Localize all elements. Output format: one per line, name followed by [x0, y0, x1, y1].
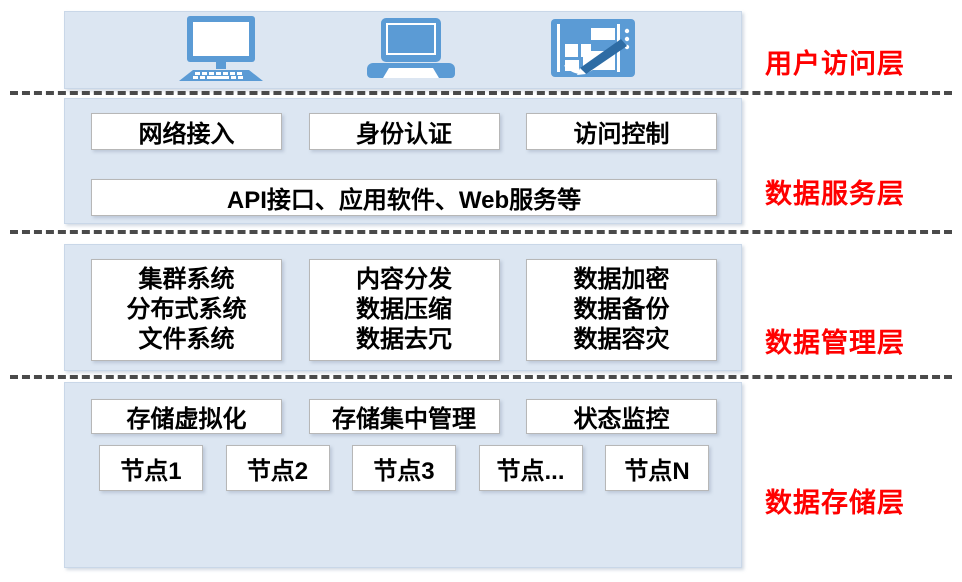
management-line: 文件系统 [139, 325, 235, 355]
management-box-content[interactable]: 内容分发 数据压缩 数据去冗 [309, 259, 500, 361]
management-box-protection[interactable]: 数据加密 数据备份 数据容灾 [526, 259, 717, 361]
storage-node-ellipsis[interactable]: 节点... [479, 445, 583, 491]
layer-caption-data-service: 数据服务层 [765, 172, 955, 211]
management-line: 数据压缩 [356, 295, 452, 325]
management-line: 数据备份 [574, 295, 670, 325]
storage-node-row: 节点1 节点2 节点3 节点... 节点N [99, 445, 709, 491]
desktop-computer-icon [167, 14, 275, 87]
storage-node-2[interactable]: 节点2 [226, 445, 330, 491]
storage-node-1[interactable]: 节点1 [99, 445, 203, 491]
service-box-network-access[interactable]: 网络接入 [91, 113, 282, 150]
storage-node-n[interactable]: 节点N [605, 445, 709, 491]
storage-node-3[interactable]: 节点3 [352, 445, 456, 491]
layer-caption-data-storage: 数据存储层 [765, 481, 955, 520]
management-line: 数据加密 [574, 265, 670, 295]
data-management-box-row: 集群系统 分布式系统 文件系统 内容分发 数据压缩 数据去冗 数据加密 数据备份… [91, 259, 717, 361]
device-icon-row [65, 12, 741, 88]
tablet-stylus-icon [547, 15, 639, 86]
layer-separator-3 [10, 375, 952, 379]
data-storage-box-row: 存储虚拟化 存储集中管理 状态监控 [91, 399, 717, 434]
layer-caption-data-management: 数据管理层 [765, 321, 955, 360]
layer-separator-2 [10, 230, 952, 234]
laptop-icon [359, 15, 463, 86]
service-box-api-applications[interactable]: API接口、应用软件、Web服务等 [91, 179, 717, 216]
panel-data-management: 集群系统 分布式系统 文件系统 内容分发 数据压缩 数据去冗 数据加密 数据备份… [64, 244, 742, 371]
management-line: 内容分发 [356, 265, 452, 295]
storage-box-central-management[interactable]: 存储集中管理 [309, 399, 500, 434]
layer-caption-user-access: 用户访问层 [765, 42, 955, 81]
panel-data-storage: 存储虚拟化 存储集中管理 状态监控 节点1 节点2 节点3 节点... 节点N [64, 382, 742, 568]
data-service-box-row: 网络接入 身份认证 访问控制 [91, 113, 717, 150]
management-line: 集群系统 [139, 265, 235, 295]
management-box-systems[interactable]: 集群系统 分布式系统 文件系统 [91, 259, 282, 361]
service-box-identity-auth[interactable]: 身份认证 [309, 113, 500, 150]
storage-box-virtualization[interactable]: 存储虚拟化 [91, 399, 282, 434]
panel-user-access [64, 11, 742, 89]
service-box-access-control[interactable]: 访问控制 [526, 113, 717, 150]
storage-box-status-monitor[interactable]: 状态监控 [526, 399, 717, 434]
management-line: 分布式系统 [127, 295, 247, 325]
panel-data-service: 网络接入 身份认证 访问控制 API接口、应用软件、Web服务等 [64, 98, 742, 224]
management-line: 数据容灾 [574, 325, 670, 355]
layered-architecture-diagram: 用户访问层 网络接入 身份认证 访问控制 API接口、应用软件、Web服务等 数… [0, 0, 962, 582]
layer-separator-1 [10, 91, 952, 95]
management-line: 数据去冗 [356, 325, 452, 355]
